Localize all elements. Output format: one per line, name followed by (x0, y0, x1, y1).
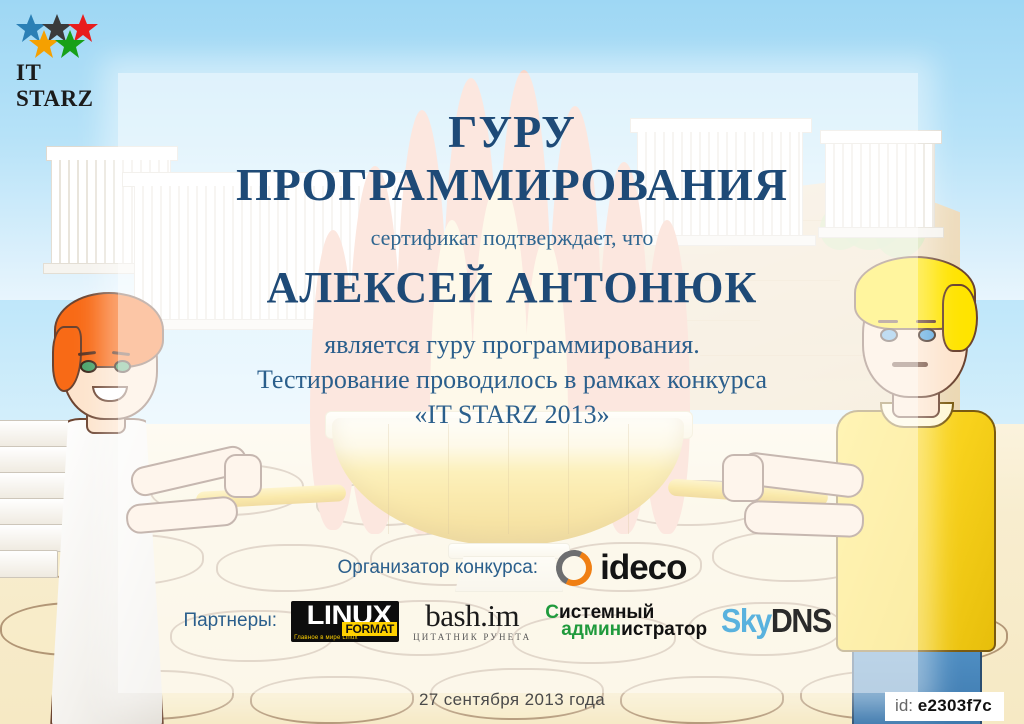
linux-format-tagline: Главное в мире Linux (294, 635, 358, 641)
skydns-logo[interactable]: SkyDNS (721, 602, 831, 640)
ideco-logo[interactable]: ideco (556, 548, 686, 588)
certificate-body-line2: Тестирование проводилось в рамках конкур… (0, 365, 1024, 395)
skydns-word-a: Sky (721, 602, 771, 639)
organizer-label: Организатор конкурса: (337, 557, 538, 579)
bash-im-word: bash.im (425, 600, 519, 631)
linux-format-logo[interactable]: LINUX FORMAT Главное в мире Linux (291, 601, 399, 642)
partners-label: Партнеры: (183, 610, 277, 632)
certificate-id-box: id: e2303f7c (885, 692, 1004, 721)
partners-row: Партнеры: LINUX FORMAT Главное в мире Li… (0, 600, 1024, 642)
ideco-circle-icon (556, 550, 592, 586)
five-stars-icon (14, 12, 114, 60)
certificate-body-line1: является гуру программирования. (0, 330, 1024, 360)
certificate-id-label: id: (895, 696, 913, 715)
certificate-body-line3: «IT STARZ 2013» (0, 400, 1024, 430)
sysadmin-word-c: админ (561, 619, 621, 640)
skydns-word-b: DNS (771, 602, 831, 639)
bash-im-tagline: ЦИТАТНИК РУНЕТА (413, 633, 531, 642)
sysadmin-word-a: С (545, 602, 559, 623)
certificate-title-line2: ПРОГРАММИРОВАНИЯ (0, 158, 1024, 211)
it-starz-logo-text: IT STARZ (16, 60, 114, 112)
it-starz-logo[interactable]: IT STARZ (14, 12, 114, 92)
sysadmin-word-d: истратор (621, 619, 707, 640)
certificate-date: 27 сентября 2013 года (0, 690, 1024, 710)
ideco-logo-text: ideco (600, 548, 686, 588)
bash-im-logo[interactable]: bash.im ЦИТАТНИК РУНЕТА (413, 600, 531, 642)
organizer-row: Организатор конкурса: ideco (0, 548, 1024, 588)
certificate-canvas: IT STARZ ГУРУ ПРОГРАММИРОВАНИЯ сертифика… (0, 0, 1024, 724)
linux-format-badge: FORMAT (342, 622, 397, 636)
certificate-subtitle: сертификат подтверждает, что (0, 225, 1024, 251)
recipient-name: АЛЕКСЕЙ АНТОНЮК (0, 262, 1024, 313)
certificate-id-value: e2303f7c (918, 696, 992, 715)
sistemnyj-administrator-logo[interactable]: Системный администратор (545, 604, 707, 639)
certificate-title-line1: ГУРУ (0, 105, 1024, 158)
